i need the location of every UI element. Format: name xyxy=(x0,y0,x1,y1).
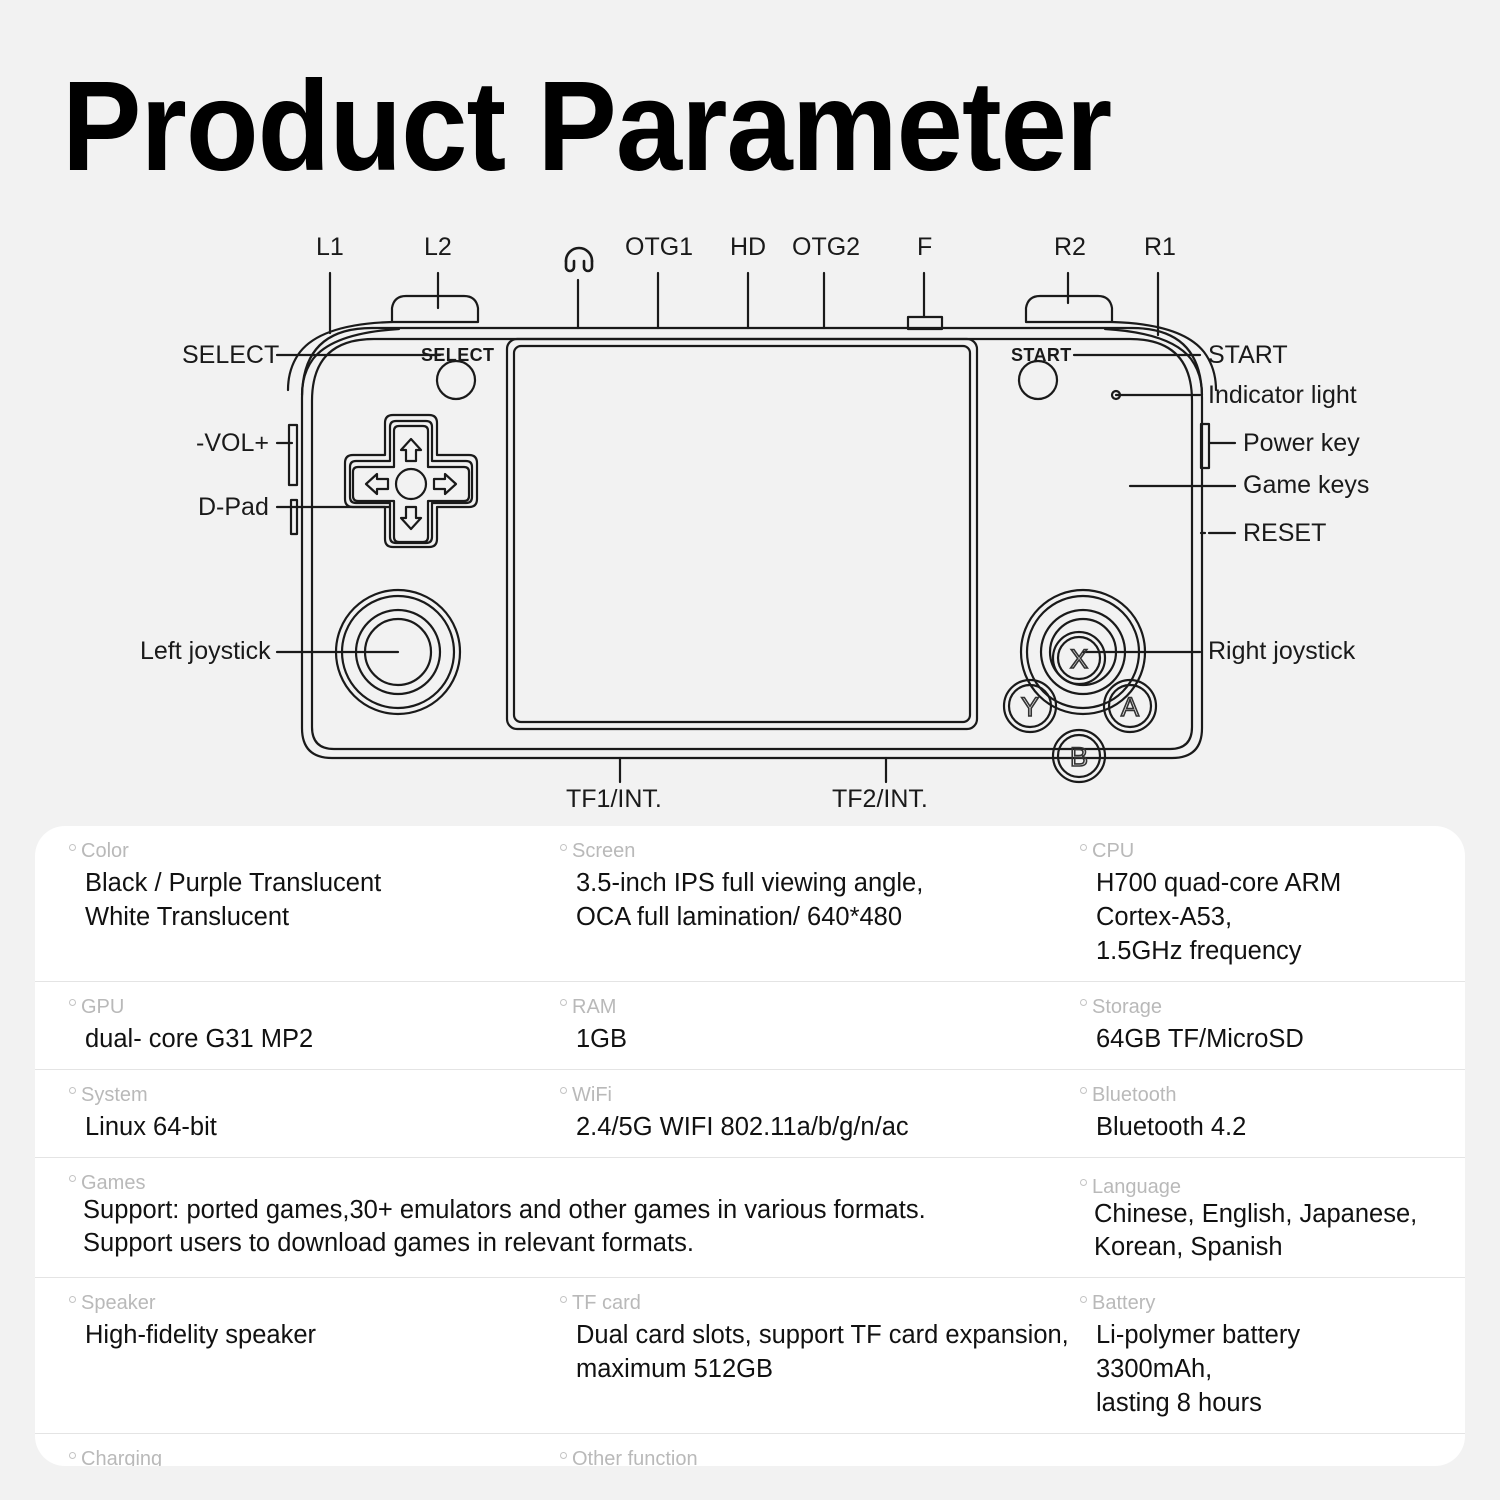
spec-label: Screen xyxy=(560,840,1070,862)
spec-label-text: TF card xyxy=(572,1292,641,1314)
spec-label: Other function xyxy=(560,1448,1421,1466)
spec-value: High-fidelity speaker xyxy=(69,1319,550,1353)
callout-label-right-joystick: Right joystick xyxy=(1208,639,1355,664)
spec-value: Chinese, English, Japanese, Korean, Span… xyxy=(1080,1198,1421,1266)
screen-inner xyxy=(514,346,970,722)
bullet-circle-icon xyxy=(560,1296,567,1303)
callout-label-otg2: OTG2 xyxy=(792,235,860,260)
spec-card: Color Black / Purple Translucent White T… xyxy=(35,826,1465,1466)
button-letter-a: A xyxy=(1121,692,1139,722)
screen-outer xyxy=(507,339,977,729)
device-silkscreen-select: SELECT xyxy=(421,346,494,364)
callout-label-game-keys: Game keys xyxy=(1243,473,1369,498)
spec-cell-screen: Screen 3.5-inch IPS full viewing angle, … xyxy=(560,826,1080,981)
callout-label-indicator: Indicator light xyxy=(1208,383,1357,408)
bullet-circle-icon xyxy=(69,1175,76,1182)
spec-value: Dual card slots, support TF card expansi… xyxy=(560,1319,1070,1387)
spec-label-text: RAM xyxy=(572,996,616,1018)
device-diagram: X Y A B L1 L2 OTG1 HD OTG2 F R2 R1 SELEC… xyxy=(0,225,1500,820)
spec-label: RAM xyxy=(560,996,1070,1018)
callout-label-vol: -VOL+ xyxy=(196,431,269,456)
spec-cell-language: Language Chinese, English, Japanese, Kor… xyxy=(1080,1158,1431,1278)
bullet-circle-icon xyxy=(1080,844,1087,851)
bullet-circle-icon xyxy=(69,1452,76,1459)
bullet-circle-icon xyxy=(1080,1087,1087,1094)
spec-row: Color Black / Purple Translucent White T… xyxy=(35,826,1465,982)
spec-cell-speaker: Speaker High-fidelity speaker xyxy=(35,1278,560,1433)
spec-row: GPU dual- core G31 MP2 RAM 1GB Storage 6… xyxy=(35,982,1465,1070)
spec-label-text: Color xyxy=(81,840,129,862)
spec-value: Bluetooth 4.2 xyxy=(1080,1111,1421,1145)
bullet-circle-icon xyxy=(69,999,76,1006)
spec-label-text: Bluetooth xyxy=(1092,1084,1177,1106)
spec-label-text: Battery xyxy=(1092,1292,1155,1314)
spec-label: Language xyxy=(1080,1176,1421,1198)
spec-label-text: Charging xyxy=(81,1448,162,1466)
bullet-circle-icon xyxy=(560,999,567,1006)
spec-label-text: GPU xyxy=(81,996,124,1018)
bullet-circle-icon xyxy=(560,1087,567,1094)
spec-label: WiFi xyxy=(560,1084,1070,1106)
button-letter-y: Y xyxy=(1021,692,1039,722)
bullet-circle-icon xyxy=(560,844,567,851)
headphone-icon xyxy=(566,248,592,271)
spec-value: Support: ported games,30+ emulators and … xyxy=(69,1194,1070,1262)
callout-label-l2: L2 xyxy=(424,235,452,260)
bullet-circle-icon xyxy=(69,1296,76,1303)
spec-cell-charging: Charging 5V/1.5A, support C2C charger xyxy=(35,1434,560,1466)
spec-cell-other-function: Other function Support 2.4G wireless and… xyxy=(560,1434,1431,1466)
spec-cell-wifi: WiFi 2.4/5G WIFI 802.11a/b/g/n/ac xyxy=(560,1070,1080,1157)
callout-label-r2: R2 xyxy=(1054,235,1086,260)
button-letter-x: X xyxy=(1070,644,1088,674)
spec-value: 64GB TF/MicroSD xyxy=(1080,1023,1421,1057)
spec-value: Li-polymer battery 3300mAh, lasting 8 ho… xyxy=(1080,1319,1421,1421)
spec-label-text: Other function xyxy=(572,1448,698,1466)
spec-label: Bluetooth xyxy=(1080,1084,1421,1106)
spec-label: Charging xyxy=(69,1448,550,1466)
spec-row: Charging 5V/1.5A, support C2C charger Ot… xyxy=(35,1434,1465,1466)
spec-label: Speaker xyxy=(69,1292,550,1314)
dpad-inner xyxy=(353,426,469,542)
spec-label-text: Screen xyxy=(572,840,635,862)
spec-label-text: Language xyxy=(1092,1176,1181,1198)
bullet-circle-icon xyxy=(1080,1179,1087,1186)
bullet-circle-icon xyxy=(69,844,76,851)
callout-label-left-joystick: Left joystick xyxy=(140,639,271,664)
spec-row: System Linux 64-bit WiFi 2.4/5G WIFI 802… xyxy=(35,1070,1465,1158)
spec-cell-gpu: GPU dual- core G31 MP2 xyxy=(35,982,560,1069)
callout-label-l1: L1 xyxy=(316,235,344,260)
spec-label: System xyxy=(69,1084,550,1106)
spec-value: Black / Purple Translucent White Translu… xyxy=(69,867,550,935)
select-button xyxy=(437,361,475,399)
button-letter-b: B xyxy=(1070,742,1088,772)
spec-cell-cpu: CPU H700 quad-core ARM Cortex-A53, 1.5GH… xyxy=(1080,826,1431,981)
dpad-outer xyxy=(345,415,477,547)
spec-cell-bluetooth: Bluetooth Bluetooth 4.2 xyxy=(1080,1070,1431,1157)
leader-gamekeys-line xyxy=(1156,485,1236,487)
bullet-circle-icon xyxy=(1080,1296,1087,1303)
spec-value: 2.4/5G WIFI 802.11a/b/g/n/ac xyxy=(560,1111,1070,1145)
spec-label: TF card xyxy=(560,1292,1070,1314)
spec-cell-system: System Linux 64-bit xyxy=(35,1070,560,1157)
callout-label-tf1: TF1/INT. xyxy=(566,787,662,812)
spec-label-text: System xyxy=(81,1084,148,1106)
spec-label-text: CPU xyxy=(1092,840,1134,862)
dpad-left-arrow xyxy=(366,474,388,494)
spec-label-text: Storage xyxy=(1092,996,1162,1018)
spec-cell-ram: RAM 1GB xyxy=(560,982,1080,1069)
spec-cell-battery: Battery Li-polymer battery 3300mAh, last… xyxy=(1080,1278,1431,1433)
product-parameter-page: Product Parameter xyxy=(0,0,1500,1500)
callout-label-power: Power key xyxy=(1243,431,1360,456)
callout-label-tf2: TF2/INT. xyxy=(832,787,928,812)
spec-label: CPU xyxy=(1080,840,1421,862)
spec-label-text: WiFi xyxy=(572,1084,612,1106)
spec-value: H700 quad-core ARM Cortex-A53, 1.5GHz fr… xyxy=(1080,867,1421,969)
spec-value: Linux 64-bit xyxy=(69,1111,550,1145)
spec-cell-games: Games Support: ported games,30+ emulator… xyxy=(35,1158,1080,1278)
spec-label: Games xyxy=(69,1172,1070,1194)
callout-label-select: SELECT xyxy=(182,343,279,368)
callout-label-otg1: OTG1 xyxy=(625,235,693,260)
left-side-nub xyxy=(291,500,297,534)
spec-label: Battery xyxy=(1080,1292,1421,1314)
spec-cell-tf-card: TF card Dual card slots, support TF card… xyxy=(560,1278,1080,1433)
callout-label-hd: HD xyxy=(730,235,766,260)
dpad-down-arrow xyxy=(401,507,421,529)
bullet-circle-icon xyxy=(69,1087,76,1094)
spec-label: Storage xyxy=(1080,996,1421,1018)
spec-cell-storage: Storage 64GB TF/MicroSD xyxy=(1080,982,1431,1069)
spec-row: Speaker High-fidelity speaker TF card Du… xyxy=(35,1278,1465,1434)
spec-value: dual- core G31 MP2 xyxy=(69,1023,550,1057)
callout-label-f: F xyxy=(917,235,932,260)
bullet-circle-icon xyxy=(1080,999,1087,1006)
spec-value: 1GB xyxy=(560,1023,1070,1057)
dpad-center xyxy=(396,469,426,499)
spec-label: Color xyxy=(69,840,550,862)
callout-label-dpad: D-Pad xyxy=(198,495,269,520)
bullet-circle-icon xyxy=(560,1452,567,1459)
volume-rocker xyxy=(289,425,297,485)
dpad-right-arrow xyxy=(434,474,456,494)
spec-label-text: Speaker xyxy=(81,1292,156,1314)
dpad-up-arrow xyxy=(401,439,421,461)
callout-label-reset: RESET xyxy=(1243,521,1326,546)
l2-bumper xyxy=(392,296,478,322)
callout-label-start: START xyxy=(1208,343,1288,368)
spec-cell-color: Color Black / Purple Translucent White T… xyxy=(35,826,560,981)
spec-label-text: Games xyxy=(81,1172,145,1194)
page-title: Product Parameter xyxy=(62,58,1111,196)
spec-row: Games Support: ported games,30+ emulator… xyxy=(35,1158,1465,1279)
spec-label: GPU xyxy=(69,996,550,1018)
start-button xyxy=(1019,361,1057,399)
spec-value: 3.5-inch IPS full viewing angle, OCA ful… xyxy=(560,867,1070,935)
callout-label-r1: R1 xyxy=(1144,235,1176,260)
device-silkscreen-start: START xyxy=(1011,346,1072,364)
